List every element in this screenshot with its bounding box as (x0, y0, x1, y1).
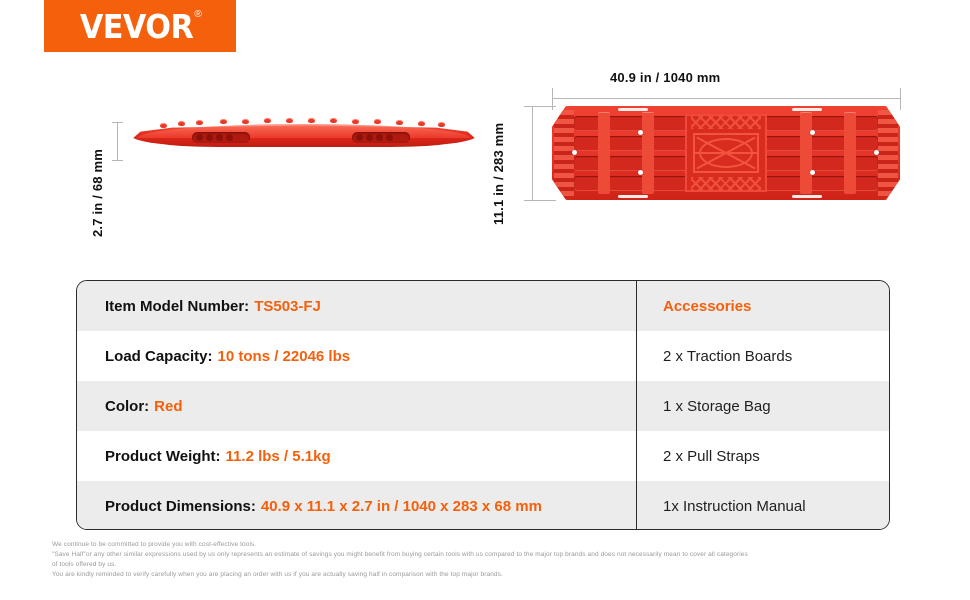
spec-label: Color: (105, 398, 149, 415)
traction-board-side-image (130, 116, 478, 152)
board-nub (438, 122, 445, 127)
disclaimer-text: We continue to be committed to provide y… (52, 540, 952, 580)
board-nub (286, 118, 293, 123)
spec-label: Item Model Number: (105, 298, 249, 315)
table-row: Load Capacity: 10 tons / 22046 lbs 2 x T… (77, 331, 889, 381)
accessories-cell: 1x Instruction Manual (637, 481, 889, 530)
spec-cell: Product Weight: 11.2 lbs / 5.1kg (77, 431, 637, 481)
width-dimension-cap-top (524, 106, 556, 107)
accessory-item: 2 x Pull Straps (663, 448, 760, 465)
board-side-top-arc (138, 124, 470, 138)
accessories-cell: 2 x Pull Straps (637, 431, 889, 481)
board-mount-hole (874, 150, 879, 155)
width-dimension-line (532, 106, 533, 200)
disclaimer-line-2: "Save Half"or any other similar expressi… (52, 550, 952, 560)
board-slot-pip (196, 134, 203, 141)
top-view-width-label: 11.1 in / 283 mm (491, 123, 506, 225)
board-edge-dash (792, 195, 822, 198)
width-dimension-cap-bottom (524, 200, 556, 201)
board-nub (242, 119, 249, 124)
board-slot-pip (226, 134, 233, 141)
brand-name: VEVOR (80, 7, 193, 46)
board-nub (178, 121, 185, 126)
spec-value: Red (154, 398, 182, 415)
board-mount-hole (638, 130, 643, 135)
disclaimer-line-3: of tools offered by us. (52, 560, 952, 570)
board-nub (352, 119, 359, 124)
spec-value: TS503-FJ (254, 298, 321, 315)
spec-cell: Color: Red (77, 381, 637, 431)
board-nub (160, 123, 167, 128)
side-dimension-cap-bottom (112, 160, 123, 161)
board-nub (196, 120, 203, 125)
top-view-length-label: 40.9 in / 1040 mm (610, 70, 720, 85)
side-view-figure: 2.7 in / 68 mm (90, 72, 490, 252)
board-mount-hole (810, 130, 815, 135)
board-edge-teeth-left (554, 110, 574, 196)
accessories-cell: Accessories (637, 281, 889, 331)
table-row: Product Dimensions: 40.9 x 11.1 x 2.7 in… (77, 481, 889, 530)
spec-label: Load Capacity: (105, 348, 213, 365)
board-edge-dash (618, 108, 648, 111)
board-slot-pip (216, 134, 223, 141)
vevor-logo: VEVOR® (44, 0, 236, 52)
spec-value: 40.9 x 11.1 x 2.7 in / 1040 x 283 x 68 m… (261, 498, 542, 515)
board-lug (642, 112, 654, 194)
board-nub (418, 121, 425, 126)
side-view-height-label: 2.7 in / 68 mm (90, 149, 105, 237)
accessories-cell: 2 x Traction Boards (637, 331, 889, 381)
length-dimension-cap-right (900, 88, 901, 110)
board-edge-dash (618, 195, 648, 198)
disclaimer-line-1: We continue to be committed to provide y… (52, 540, 952, 550)
disclaimer-line-4: You are kindly reminded to verify carefu… (52, 570, 952, 580)
board-nub (396, 120, 403, 125)
board-nub (308, 118, 315, 123)
length-dimension-line (552, 98, 900, 99)
accessory-item: 1 x Storage Bag (663, 398, 771, 415)
spec-value: 11.2 lbs / 5.1kg (226, 448, 331, 465)
accessory-item: 1x Instruction Manual (663, 498, 806, 515)
traction-board-top-image (552, 106, 900, 200)
side-dimension-line (117, 122, 118, 160)
board-edge-teeth-right (878, 110, 898, 196)
accessories-cell: 1 x Storage Bag (637, 381, 889, 431)
spec-label: Product Weight: (105, 448, 221, 465)
board-slot-pip (386, 134, 393, 141)
board-side-slot (352, 132, 410, 143)
board-nub (374, 119, 381, 124)
board-slot-pip (356, 134, 363, 141)
board-mount-hole (810, 170, 815, 175)
table-row: Product Weight: 11.2 lbs / 5.1kg 2 x Pul… (77, 431, 889, 481)
board-center-panel (685, 114, 767, 192)
board-slot-pip (376, 134, 383, 141)
spec-cell: Load Capacity: 10 tons / 22046 lbs (77, 331, 637, 381)
spec-label: Product Dimensions: (105, 498, 256, 515)
board-slot-pip (366, 134, 373, 141)
board-lug (598, 112, 610, 194)
board-side-slot (192, 132, 250, 143)
board-nub (330, 118, 337, 123)
side-dimension-cap-top (112, 122, 123, 123)
board-zigzag-band (691, 116, 761, 129)
board-mount-hole (638, 170, 643, 175)
specification-table: Item Model Number: TS503-FJ Accessories … (76, 280, 890, 530)
product-figures: 2.7 in / 68 mm (0, 52, 970, 267)
top-view-figure: 40.9 in / 1040 mm 11.1 in / 283 mm (498, 52, 918, 262)
board-lug (844, 112, 856, 194)
board-mount-hole (572, 150, 577, 155)
table-row: Color: Red 1 x Storage Bag (77, 381, 889, 431)
board-zigzag-band (691, 177, 761, 190)
accessories-header: Accessories (663, 298, 751, 315)
board-nub (220, 119, 227, 124)
spec-cell: Product Dimensions: 40.9 x 11.1 x 2.7 in… (77, 481, 637, 530)
spec-value: 10 tons / 22046 lbs (218, 348, 351, 365)
board-slot-pip (206, 134, 213, 141)
board-lug (800, 112, 812, 194)
registered-trademark-icon: ® (194, 9, 201, 20)
brand-wordmark: VEVOR® (80, 10, 201, 43)
table-row: Item Model Number: TS503-FJ Accessories (77, 281, 889, 331)
spec-cell: Item Model Number: TS503-FJ (77, 281, 637, 331)
board-nub (264, 118, 271, 123)
board-edge-dash (792, 108, 822, 111)
board-center-cross-line (693, 152, 759, 154)
accessory-item: 2 x Traction Boards (663, 348, 792, 365)
